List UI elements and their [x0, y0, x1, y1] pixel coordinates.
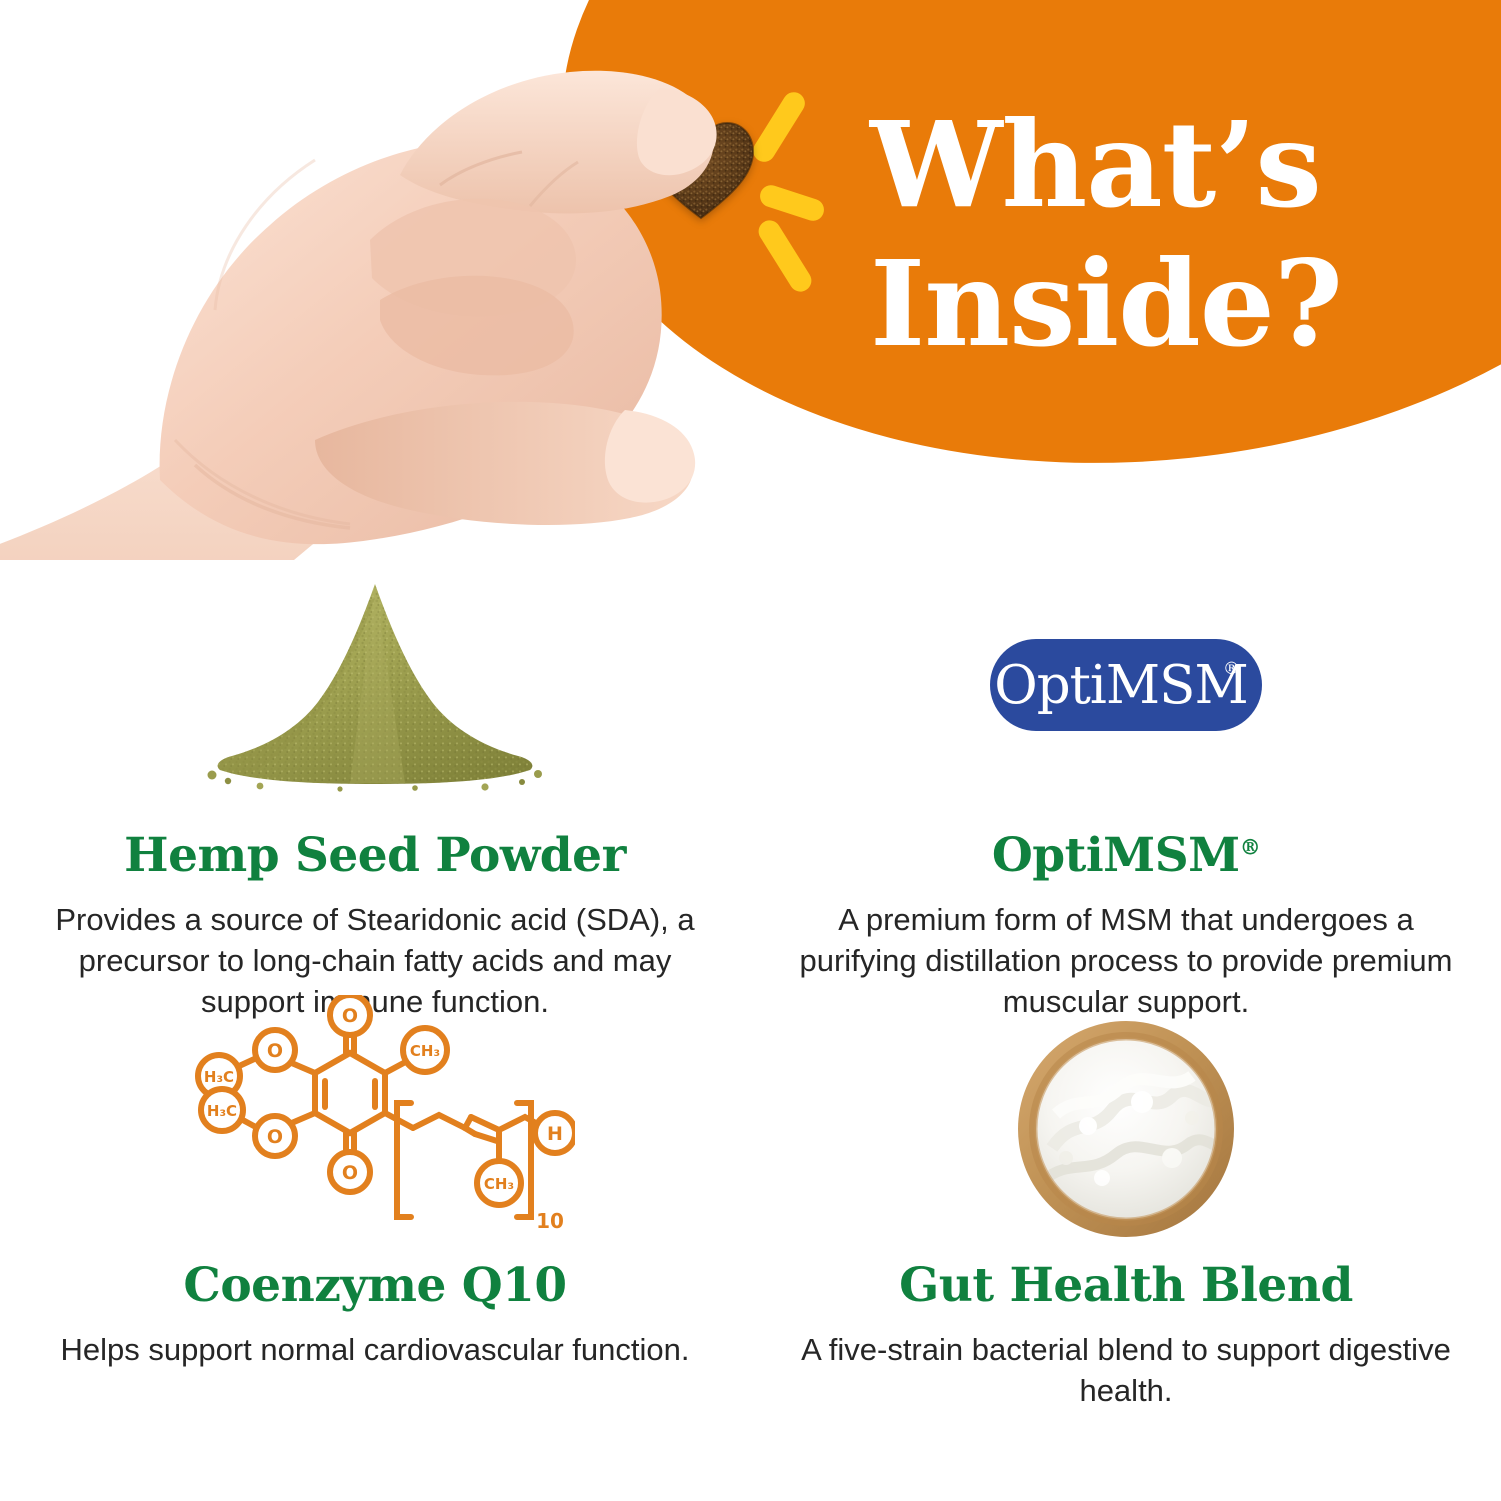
- headline-line-2: Inside?: [870, 234, 1430, 373]
- optimsm-logo-text: OptiMSM: [994, 659, 1257, 712]
- molecule-label-o-bottom: O: [342, 1162, 358, 1184]
- molecule-label-h3c-upper: H₃C: [204, 1068, 234, 1086]
- molecule-label-ch3-ring: CH₃: [410, 1042, 440, 1060]
- ingredient-title-text: Coenzyme Q10: [183, 1258, 566, 1313]
- registered-trademark-icon: ®: [1223, 659, 1240, 679]
- optimsm-logo: OptiMSM ®: [990, 639, 1262, 731]
- ingredient-description-coenzyme-q10: Helps support normal cardiovascular func…: [0, 1329, 750, 1370]
- gut-health-blend-art: [751, 990, 1501, 1240]
- ingredient-description-gut-health-blend: A five-strain bacterial blend to support…: [751, 1329, 1501, 1411]
- bowl-of-white-powder-icon: [992, 1018, 1260, 1240]
- molecule-label-repeat-count: 10: [536, 1209, 564, 1233]
- ingredient-card-hemp-seed-powder: Hemp Seed Powder Provides a source of St…: [0, 560, 750, 1023]
- molecule-label-o-top: O: [342, 1005, 358, 1027]
- optimsm-logo-art: OptiMSM ®: [751, 560, 1501, 810]
- molecule-label-ch3-chain: CH₃: [484, 1175, 514, 1193]
- hero-banner: What’s Inside?: [0, 0, 1501, 560]
- molecule-label-o-lower-left: O: [267, 1126, 283, 1148]
- page-title: What’s Inside?: [870, 95, 1430, 373]
- molecule-label-h-terminal: H: [547, 1123, 563, 1145]
- ingredient-card-gut-health-blend: Gut Health Blend A five-strain bacterial…: [751, 990, 1501, 1411]
- ingredient-card-coenzyme-q10: O O O O H₃C H₃C CH₃ CH₃ H 10 Coenzyme Q1…: [0, 990, 750, 1370]
- ingredient-title-gut-health-blend: Gut Health Blend: [751, 1258, 1501, 1313]
- ingredient-title-text: Hemp Seed Powder: [124, 828, 626, 883]
- ingredient-title-text: Gut Health Blend: [899, 1258, 1353, 1313]
- ingredients-grid: Hemp Seed Powder Provides a source of St…: [0, 560, 1501, 1501]
- ingredient-title-text: OptiMSM: [992, 828, 1240, 883]
- headline-line-1: What’s: [870, 95, 1430, 234]
- hemp-powder-pile-icon: [200, 578, 550, 793]
- ingredient-title-hemp-seed-powder: Hemp Seed Powder: [0, 828, 750, 883]
- coq10-molecule-diagram-icon: O O O O H₃C H₃C CH₃ CH₃ H 10: [175, 995, 575, 1240]
- molecule-label-o-upper-left: O: [267, 1040, 283, 1062]
- coq10-molecule-art: O O O O H₃C H₃C CH₃ CH₃ H 10: [0, 990, 750, 1240]
- hemp-powder-art: [0, 560, 750, 810]
- ingredient-title-optimsm: OptiMSM®: [751, 828, 1501, 883]
- hand-holding-treat-image: [0, 10, 760, 560]
- molecule-label-h3c-lower: H₃C: [207, 1102, 237, 1120]
- ingredient-title-coenzyme-q10: Coenzyme Q10: [0, 1258, 750, 1313]
- ingredient-card-optimsm: OptiMSM ® OptiMSM® A premium form of MSM…: [751, 560, 1501, 1023]
- registered-trademark-superscript: ®: [1240, 834, 1261, 859]
